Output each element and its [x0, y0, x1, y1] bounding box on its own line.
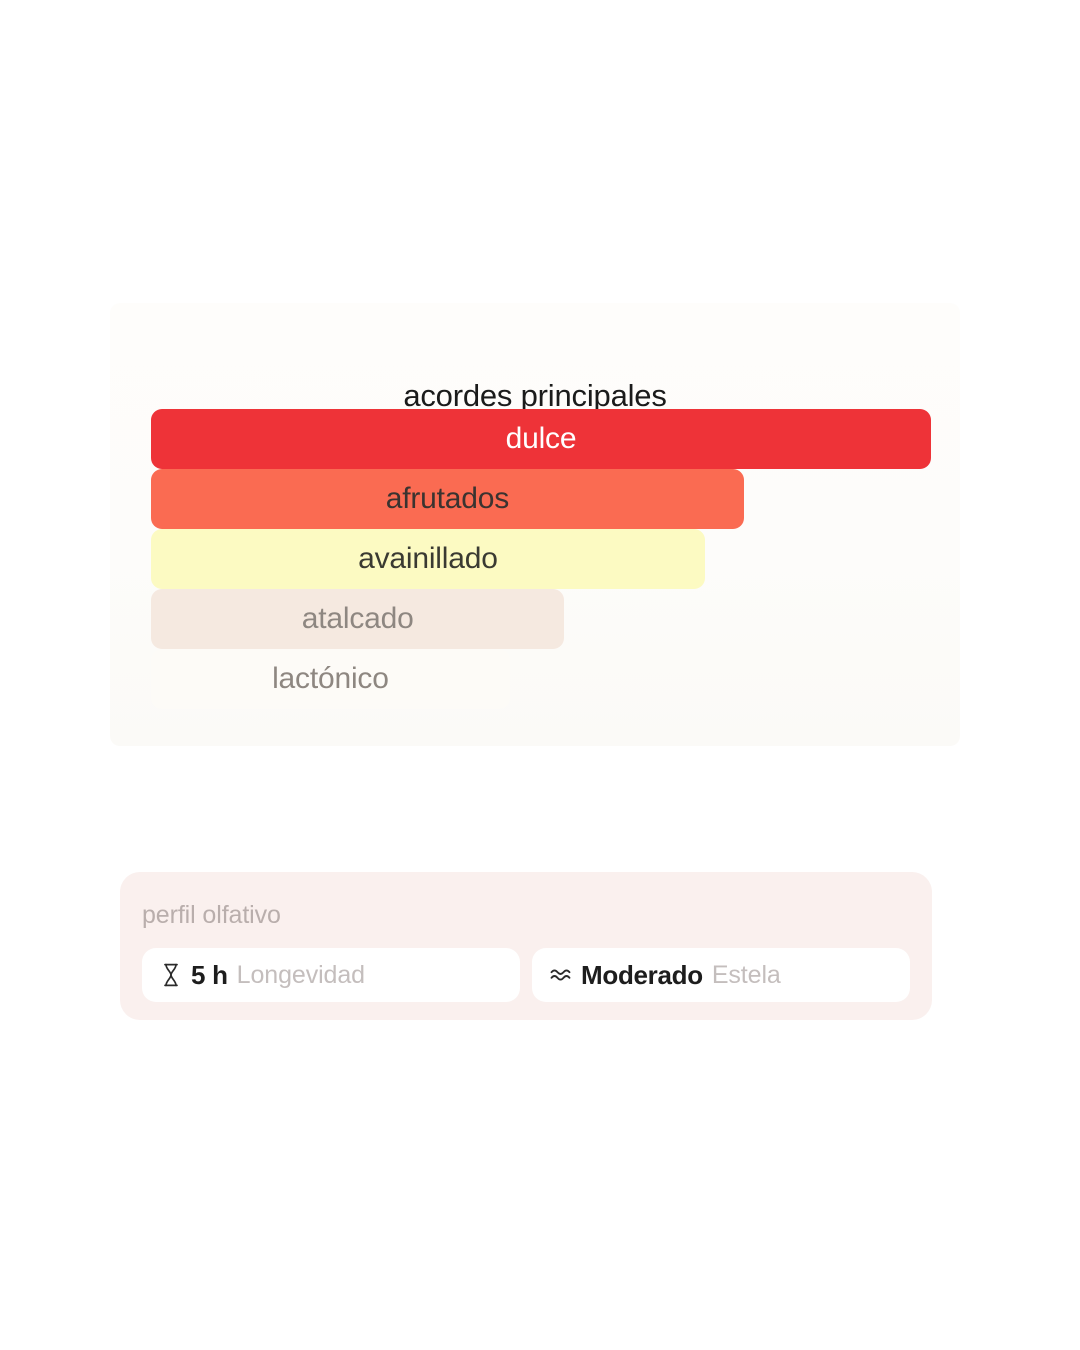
accord-bar-lactonico: [151, 649, 510, 709]
accords-bar-chart: dulce afrutados avainillado atalcado lac…: [151, 409, 931, 709]
accord-bar-avainillado: [151, 529, 705, 589]
accord-row[interactable]: avainillado: [151, 529, 931, 589]
accord-bar-afrutados: [151, 469, 744, 529]
main-accords-card: acordes principales dulce afrutados avai…: [110, 303, 960, 746]
olfactory-profile-panel: perfil olfativo 5 h Longevidad: [120, 872, 932, 1020]
hourglass-icon: [160, 962, 182, 988]
sillage-label: Estela: [712, 960, 781, 990]
waves-icon: [550, 962, 572, 988]
longevity-label: Longevidad: [237, 960, 365, 990]
accord-row[interactable]: lactónico: [151, 649, 931, 709]
profile-chip-list: 5 h Longevidad Moderado Estela: [142, 948, 910, 1002]
accord-bar-atalcado: [151, 589, 564, 649]
accord-row[interactable]: afrutados: [151, 469, 931, 529]
accord-row[interactable]: atalcado: [151, 589, 931, 649]
accord-row[interactable]: dulce: [151, 409, 931, 469]
profile-heading: perfil olfativo: [142, 900, 281, 930]
longevity-value: 5 h: [191, 960, 228, 990]
sillage-value: Moderado: [581, 960, 703, 990]
sillage-chip[interactable]: Moderado Estela: [532, 948, 910, 1002]
accord-bar-dulce: [151, 409, 931, 469]
longevity-chip[interactable]: 5 h Longevidad: [142, 948, 520, 1002]
